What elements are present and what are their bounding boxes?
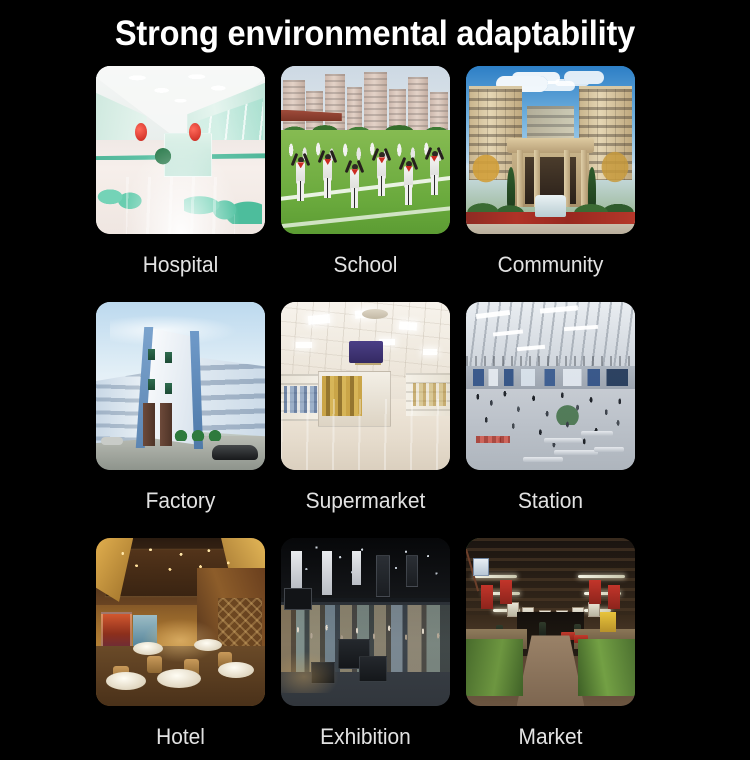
thumbnail-factory[interactable] <box>96 302 265 470</box>
thumbnail-hotel[interactable] <box>96 538 265 706</box>
scenario-grid: Hospital <box>96 66 634 760</box>
scenario-card-hospital[interactable]: Hospital <box>96 66 265 302</box>
scene-station-concourse <box>466 302 635 470</box>
page-title: Strong environmental adaptability <box>26 12 724 56</box>
scene-school-exercise-field <box>281 66 450 234</box>
scenario-card-exhibition[interactable]: Exhibition <box>281 538 450 760</box>
scenario-card-hotel[interactable]: Hotel <box>96 538 265 760</box>
scenario-card-factory[interactable]: Factory <box>96 302 265 538</box>
scenario-label-supermarket: Supermarket <box>285 470 446 538</box>
scene-supermarket-interior <box>281 302 450 470</box>
scenario-label-community: Community <box>470 234 631 302</box>
scene-hotel-restaurant <box>96 538 265 706</box>
thumbnail-hospital[interactable] <box>96 66 265 234</box>
scenario-card-market[interactable]: 放心 <box>466 538 635 760</box>
scenario-label-factory: Factory <box>100 470 261 538</box>
scenario-card-station[interactable]: Station <box>466 302 635 538</box>
thumbnail-station[interactable] <box>466 302 635 470</box>
scenario-label-school: School <box>285 234 446 302</box>
scene-hospital-corridor <box>96 66 265 234</box>
thumbnail-market[interactable]: 放心 <box>466 538 635 706</box>
thumbnail-supermarket[interactable] <box>281 302 450 470</box>
thumbnail-school[interactable] <box>281 66 450 234</box>
scenario-label-market: Market <box>470 706 631 760</box>
scene-exhibition-hall <box>281 538 450 706</box>
scenario-card-school[interactable]: School <box>281 66 450 302</box>
page-root: Strong environmental adaptability <box>0 0 750 750</box>
scenario-card-community[interactable]: Community <box>466 66 635 302</box>
scenario-card-supermarket[interactable]: Supermarket <box>281 302 450 538</box>
scenario-label-exhibition: Exhibition <box>285 706 446 760</box>
thumbnail-exhibition[interactable] <box>281 538 450 706</box>
scene-factory-building <box>96 302 265 470</box>
scenario-label-hotel: Hotel <box>100 706 261 760</box>
thumbnail-community[interactable] <box>466 66 635 234</box>
scenario-label-hospital: Hospital <box>100 234 261 302</box>
scene-wet-market: 放心 <box>466 538 635 706</box>
scenario-label-station: Station <box>470 470 631 538</box>
scene-residential-community <box>466 66 635 234</box>
